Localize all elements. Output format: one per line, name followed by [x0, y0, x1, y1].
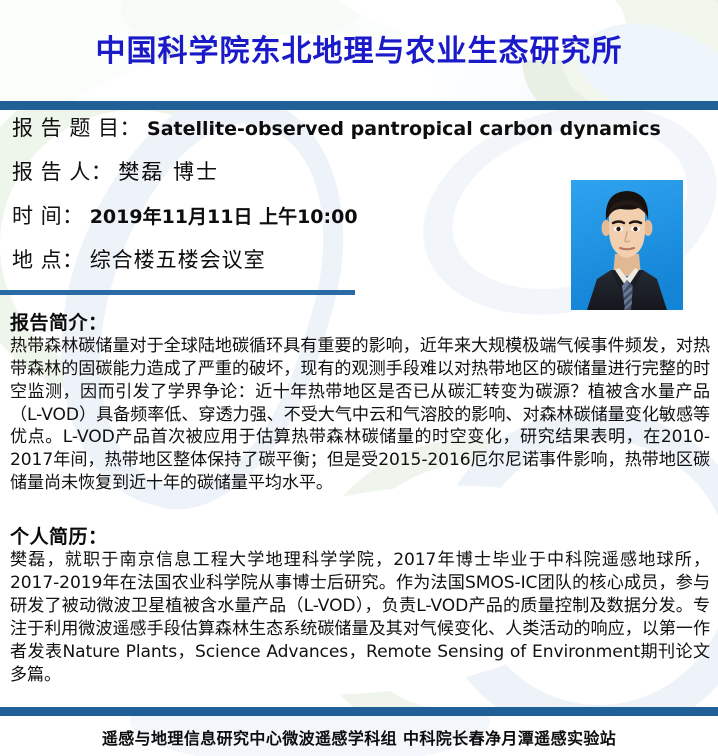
bio-body: 樊磊，就职于南京信息工程大学地理科学学院，2017年博士毕业于中科院遥感地球所，… [10, 549, 710, 687]
abstract-section: 报告简介： 热带森林碳储量对于全球陆地碳循环具有重要的影响，近年来大规模极端气候… [10, 312, 710, 495]
poster-header: 中国科学院东北地理与农业生态研究所 [0, 0, 718, 101]
info-value-time: 2019年11月11日 上午10:00 [90, 202, 358, 229]
footer-affiliations: 遥感与地理信息研究中心微波遥感学科组 中科院长春净月潭遥感实验站 [0, 725, 718, 749]
divider-bottom [0, 707, 718, 716]
seminar-poster: 中国科学院东北地理与农业生态研究所 报 告 题 目： Satellite-obs… [0, 0, 718, 756]
info-row-title: 报 告 题 目： Satellite-observed pantropical … [0, 112, 718, 156]
divider-middle [0, 290, 355, 295]
abstract-body: 热带森林碳储量对于全球陆地碳循环具有重要的影响，近年来大规模极端气候事件频发，对… [10, 335, 710, 494]
info-value-location: 综合楼五楼会议室 [90, 244, 266, 274]
bio-heading: 个人简历： [10, 526, 710, 548]
info-label-location: 地 点： [12, 244, 84, 274]
info-label-speaker: 报 告 人： [12, 156, 112, 186]
speaker-photo [571, 180, 683, 310]
poster-footer: 遥感与地理信息研究中心微波遥感学科组 中科院长春净月潭遥感实验站 [0, 716, 718, 756]
bio-section: 个人简历： 樊磊，就职于南京信息工程大学地理科学学院，2017年博士毕业于中科院… [10, 526, 710, 687]
info-value-speaker: 樊磊 博士 [118, 156, 219, 186]
info-label-title: 报 告 题 目： [12, 112, 141, 142]
organization-title: 中国科学院东北地理与农业生态研究所 [0, 26, 718, 70]
info-label-time: 时 间： [12, 200, 84, 230]
divider-top [0, 101, 718, 110]
info-value-title: Satellite-observed pantropical carbon dy… [147, 118, 661, 140]
abstract-heading: 报告简介： [10, 312, 710, 334]
